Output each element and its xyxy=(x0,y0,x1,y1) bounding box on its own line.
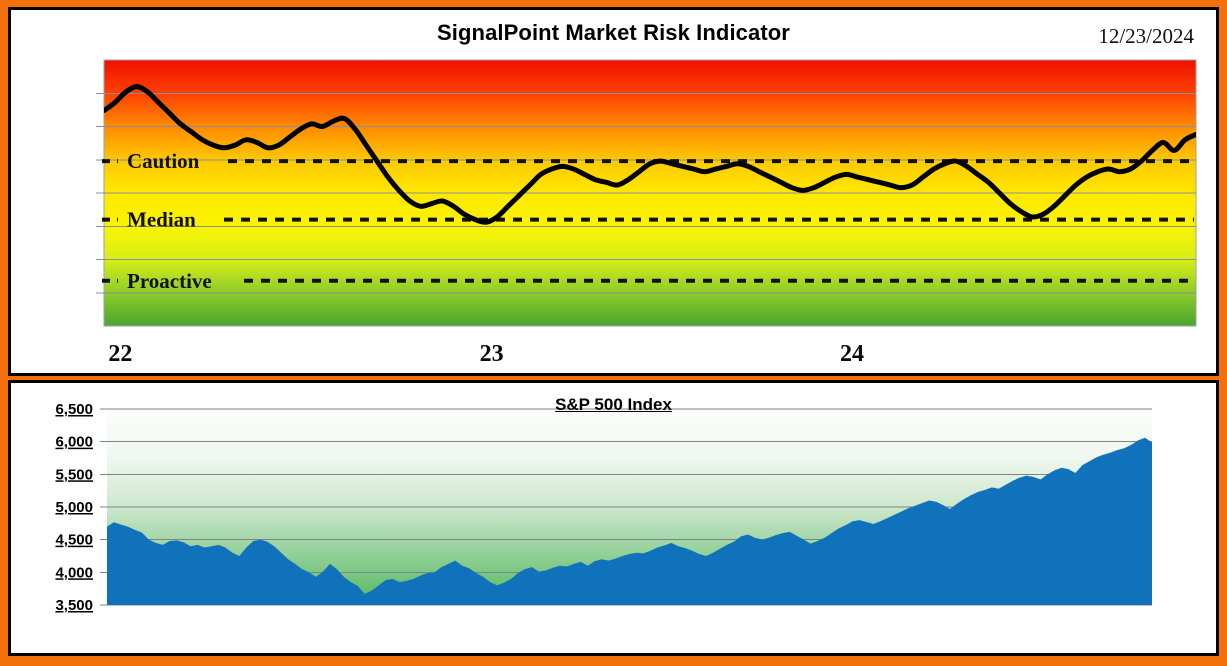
threshold-label: Caution xyxy=(127,149,200,173)
spx-area-chart: 6,5006,0005,5005,0004,5004,0003,500 xyxy=(11,383,1216,615)
threshold-label: Median xyxy=(127,208,196,232)
page-title: SignalPoint Market Risk Indicator xyxy=(11,20,1216,46)
y-axis-tick-label: 4,500 xyxy=(55,532,93,549)
x-axis-tick-label: 22 xyxy=(108,341,132,367)
y-axis-tick-label: 5,000 xyxy=(55,499,93,516)
spx-panel: S&P 500 Index 6,5006,0005,5005,0004,5004… xyxy=(8,380,1219,656)
report-date: 12/23/2024 xyxy=(1098,24,1194,49)
x-axis-tick-label: 24 xyxy=(840,341,864,367)
y-axis-tick-label: 6,000 xyxy=(55,434,93,451)
y-axis-tick-label: 3,500 xyxy=(55,597,93,614)
x-axis-tick-label: 23 xyxy=(480,341,504,367)
spx-chart-title: S&P 500 Index xyxy=(11,395,1216,415)
risk-indicator-chart: CautionMedianProactive222324 xyxy=(11,54,1216,374)
app-root: SignalPoint Market Risk Indicator 12/23/… xyxy=(0,0,1227,666)
risk-panel-header: SignalPoint Market Risk Indicator 12/23/… xyxy=(11,10,1216,54)
y-axis-tick-label: 4,000 xyxy=(55,564,93,581)
y-axis-tick-label: 5,500 xyxy=(55,466,93,483)
risk-indicator-panel: SignalPoint Market Risk Indicator 12/23/… xyxy=(8,7,1219,376)
threshold-label: Proactive xyxy=(127,269,212,293)
